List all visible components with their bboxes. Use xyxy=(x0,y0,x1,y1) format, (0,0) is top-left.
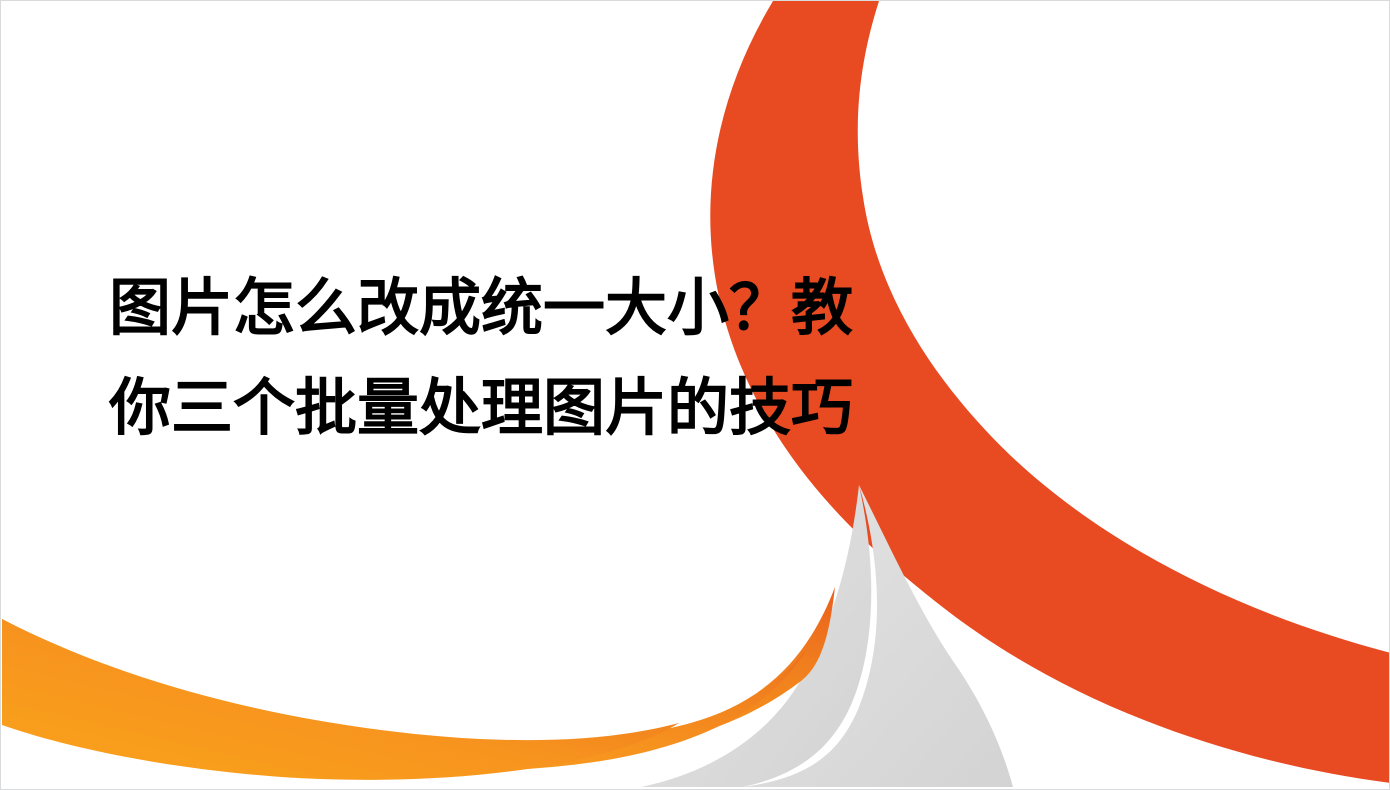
orange-band-mass xyxy=(2,619,679,780)
presentation-slide: 图片怎么改成统一大小？教 你三个批量处理图片的技巧 xyxy=(0,0,1390,790)
title-line-2: 你三个批量处理图片的技巧 xyxy=(109,359,869,459)
slide-title: 图片怎么改成统一大小？教 你三个批量处理图片的技巧 xyxy=(109,259,869,459)
title-line-1: 图片怎么改成统一大小？教 xyxy=(109,259,869,359)
